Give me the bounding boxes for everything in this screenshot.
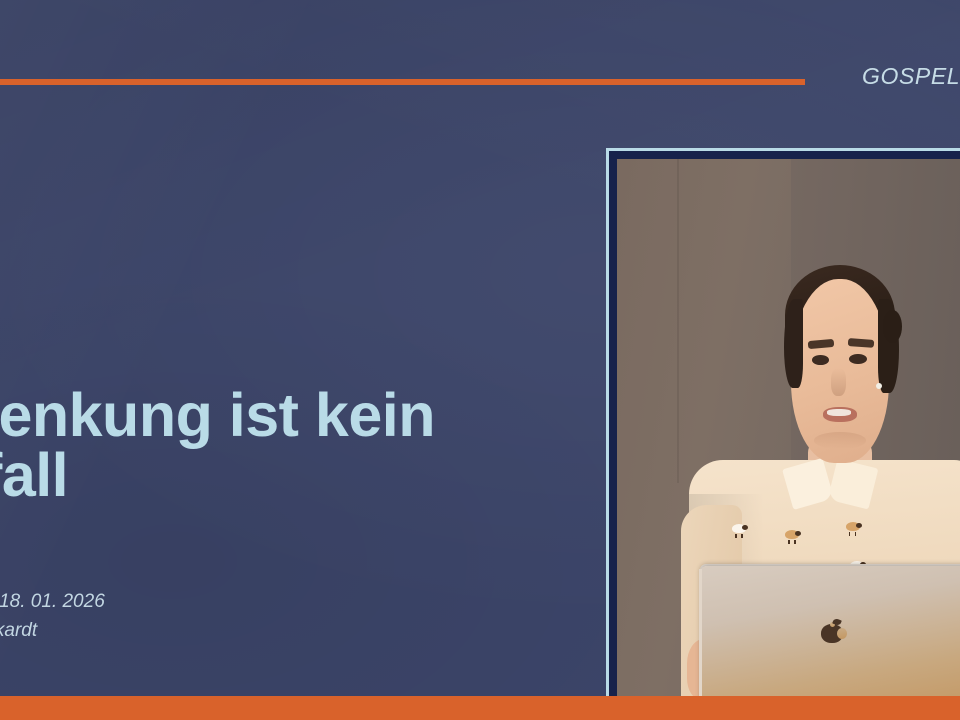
sweater-sheep-motif [783,530,801,541]
video-frame-border [609,151,960,720]
apple-logo-icon [821,619,843,643]
speaker-hair-left [784,299,803,388]
subtitle-date: m 18. 01. 2026 [0,588,598,617]
title-line-2: fall [0,446,602,506]
bottom-accent-band [0,696,960,720]
speaker-teeth [827,409,852,416]
page-title: lenkung ist kein fall [0,386,602,506]
subtitle-speaker: urkardt [0,617,598,646]
speaker-nose [831,368,846,396]
laptop-left-edge [699,569,702,717]
presentation-slide: GOSPEL M lenkung ist kein fall m 18. 01.… [0,0,960,720]
sweater-sheep-motif [730,524,748,535]
speaker-video-feed [617,159,960,717]
top-accent-rule [0,79,805,85]
sweater-sheep-motif [844,522,862,533]
brand-label: GOSPEL M [862,63,960,90]
speaker-hair-bun [883,310,902,343]
title-block: lenkung ist kein fall [0,386,602,506]
subtitle-block: m 18. 01. 2026 urkardt [0,588,598,645]
title-line-1: lenkung ist kein [0,381,435,449]
speaker-video-panel [606,148,960,720]
